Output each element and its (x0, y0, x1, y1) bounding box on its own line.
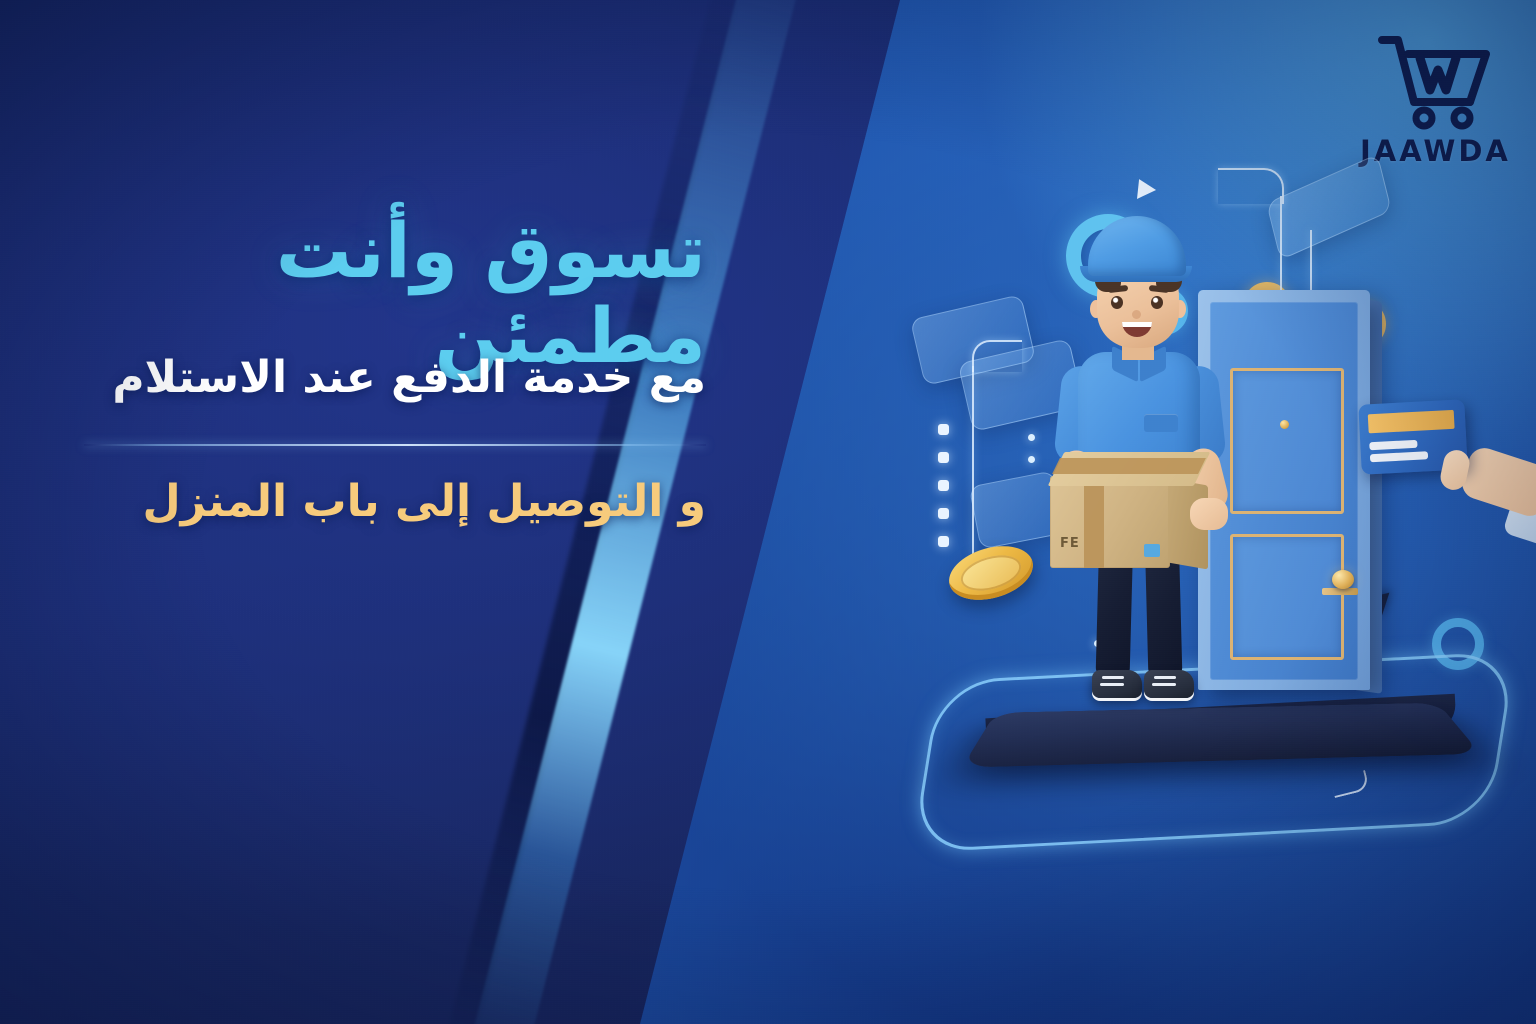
dot-1 (938, 424, 949, 435)
gold-coin (948, 548, 1034, 598)
door-peephole (1280, 420, 1289, 429)
shirt-pocket (1144, 414, 1178, 432)
hand (1458, 444, 1536, 520)
dot-2 (938, 452, 949, 463)
glass-card-top-right (1266, 154, 1392, 261)
hand-right (1190, 498, 1228, 530)
parcel-tape-vertical (1084, 476, 1104, 568)
parcel-sticker (1144, 544, 1160, 557)
parcel-label: FE (1060, 536, 1080, 551)
path-line-left (972, 366, 974, 560)
subtitle-payment-on-delivery: مع خدمة الدفع عند الاستلام (0, 352, 706, 405)
subtitle-home-delivery: و التوصيل إلى باب المنزل (0, 476, 706, 529)
dot-small-b (1028, 456, 1035, 463)
dot-4 (938, 508, 949, 519)
divider (84, 444, 706, 446)
delivery-illustration: FE (880, 0, 1536, 1024)
path-curve-top-right (1218, 168, 1284, 204)
cap (1088, 216, 1186, 276)
shoe-left (1092, 670, 1142, 698)
nose (1132, 310, 1141, 319)
dot-5 (938, 536, 949, 547)
delivery-person: FE (1040, 216, 1250, 716)
eye-left (1111, 296, 1123, 309)
card-detail-line-2 (1370, 451, 1428, 462)
eye-right (1151, 296, 1163, 309)
dot-small-a (1028, 434, 1035, 441)
promo-banner: JAAWDA تسوق وأنت مطمئن مع خدمة الدفع عند… (0, 0, 1536, 1024)
dot-3 (938, 480, 949, 491)
path-curve-left (972, 340, 1022, 372)
copy-block: تسوق وأنت مطمئن مع خدمة الدفع عند الاستل… (0, 0, 706, 1024)
shoe-right (1144, 670, 1194, 698)
door-knob (1332, 570, 1354, 589)
card-magnetic-stripe (1368, 410, 1455, 433)
play-triangle-icon (1137, 179, 1157, 201)
parcel-tape-horizontal (1052, 458, 1206, 474)
credit-card-hand (1360, 392, 1536, 582)
cardboard-parcel: FE (1050, 452, 1210, 574)
door-knob-plate (1322, 588, 1358, 595)
card-detail-line-1 (1369, 440, 1417, 451)
